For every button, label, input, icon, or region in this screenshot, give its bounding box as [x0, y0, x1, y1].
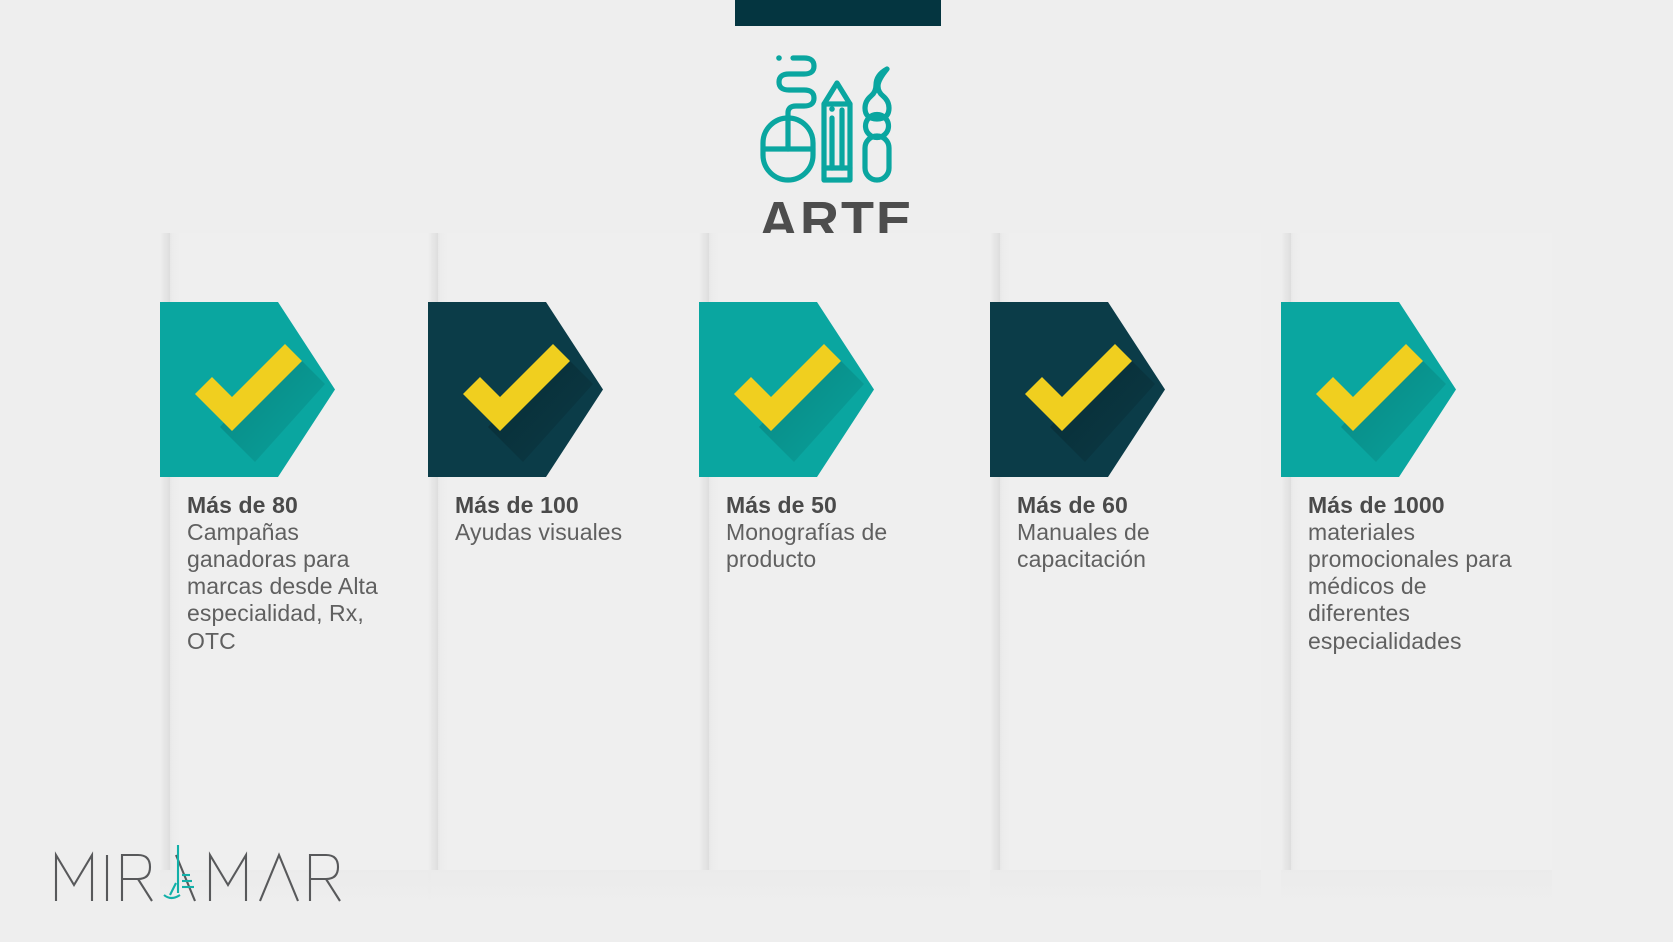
card-text: Más de 80 Campañas ganadoras para marcas… [187, 491, 412, 655]
card-column: Más de 60 Manuales de capacitación [1000, 233, 1261, 870]
check-badge-icon [1281, 302, 1456, 477]
checkmark-badge [699, 302, 874, 477]
card-text: Más de 100 Ayudas visuales [455, 491, 680, 546]
card-heading: Más de 1000 [1308, 491, 1533, 519]
card-description: Monografías de producto [726, 519, 951, 573]
card-column: Más de 100 Ayudas visuales [438, 233, 699, 870]
top-accent-bar [735, 0, 941, 26]
cards-row: Más de 80 Campañas ganadoras para marcas… [0, 233, 1673, 873]
checkmark-badge [990, 302, 1165, 477]
card-description: materiales promocionales para médicos de… [1308, 519, 1533, 655]
card-text: Más de 1000 materiales promocionales par… [1308, 491, 1533, 655]
check-badge-icon [699, 302, 874, 477]
card-heading: Más de 50 [726, 491, 951, 519]
card-column: Más de 1000 materiales promocionales par… [1291, 233, 1552, 870]
card-column: Más de 80 Campañas ganadoras para marcas… [170, 233, 431, 870]
card-text: Más de 50 Monografías de producto [726, 491, 951, 573]
card-text: Más de 60 Manuales de capacitación [1017, 491, 1242, 573]
slide-header: ARTE [0, 48, 1673, 248]
card-description: Campañas ganadoras para marcas desde Alt… [187, 519, 412, 655]
card-heading: Más de 80 [187, 491, 412, 519]
check-badge-icon [160, 302, 335, 477]
checkmark-badge [160, 302, 335, 477]
card-column: Más de 50 Monografías de producto [709, 233, 970, 870]
card-description: Manuales de capacitación [1017, 519, 1242, 573]
checkmark-badge [1281, 302, 1456, 477]
checkmark-badge [428, 302, 603, 477]
slide-canvas: ARTE [0, 0, 1673, 942]
mouse-pencil-brush-icon [747, 48, 927, 188]
card-heading: Más de 100 [455, 491, 680, 519]
card-description: Ayudas visuales [455, 519, 680, 546]
check-badge-icon [990, 302, 1165, 477]
card-heading: Más de 60 [1017, 491, 1242, 519]
check-badge-icon [428, 302, 603, 477]
miramar-logo [52, 845, 342, 907]
